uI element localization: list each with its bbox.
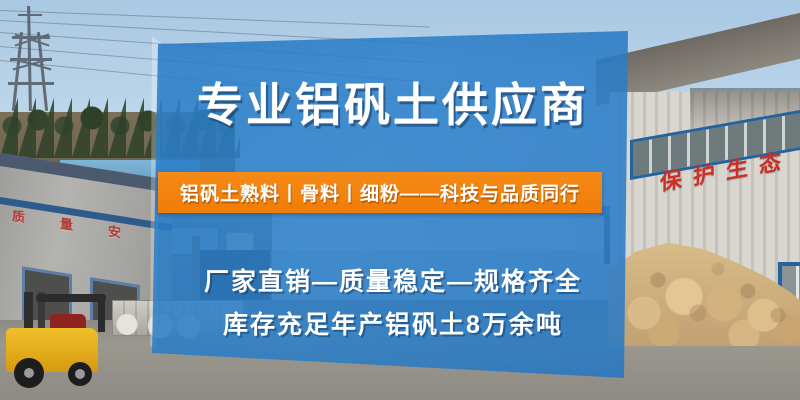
banner-subline-1: 厂家直销—质量稳定—规格齐全: [158, 262, 628, 298]
banner-content: 专业铝矾土供应商 铝矾土熟料丨骨料丨细粉——科技与品质同行 厂家直销—质量稳定—…: [158, 0, 628, 400]
forklift-front-wheel: [14, 358, 44, 388]
forklift-rear-wheel: [68, 362, 92, 386]
left-building-sign-3: 安: [104, 223, 123, 242]
left-building-sign-2: 量: [56, 216, 75, 235]
yellow-forklift: [6, 292, 126, 388]
bauxite-supplier-banner: 质 量 安 保: [0, 0, 800, 400]
banner-subline-2: 库存充足年产铝矾土8万余吨: [158, 305, 628, 341]
tagline-bar: 铝矾土熟料丨骨料丨细粉——科技与品质同行: [158, 172, 602, 213]
banner-headline: 专业铝矾土供应商: [158, 79, 628, 131]
tagline-text: 铝矾土熟料丨骨料丨细粉——科技与品质同行: [180, 179, 580, 206]
forklift-guard-post: [98, 298, 105, 332]
left-building-sign-1: 质: [8, 208, 27, 227]
forklift-overhead-guard: [36, 294, 106, 302]
